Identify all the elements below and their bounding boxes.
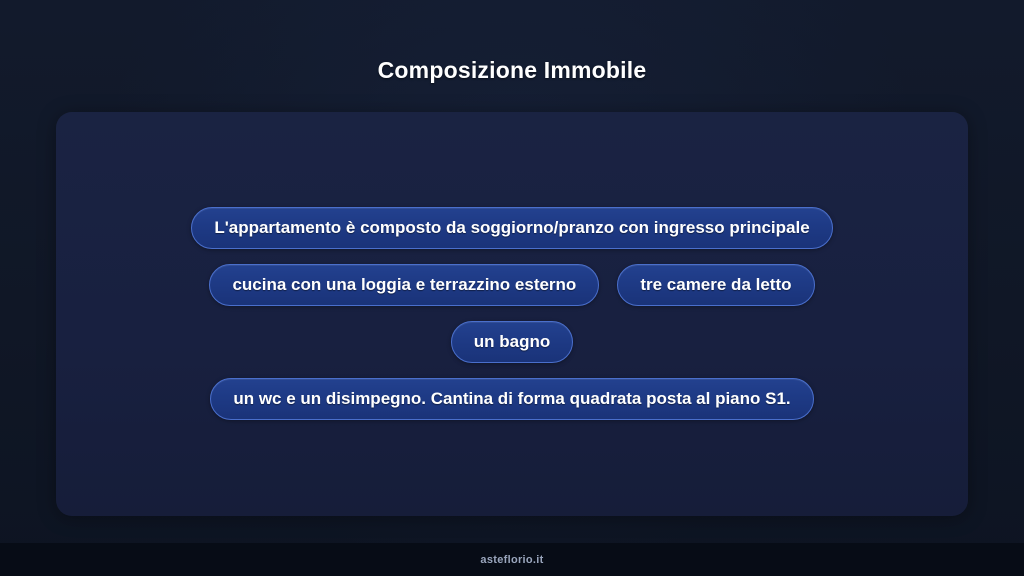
pill-list: L'appartamento è composto da soggiorno/p… — [56, 207, 968, 420]
pill-row: cucina con una loggia e terrazzino ester… — [56, 264, 968, 306]
page-title: Composizione Immobile — [0, 57, 1024, 84]
pill-row: L'appartamento è composto da soggiorno/p… — [56, 207, 968, 249]
list-item[interactable]: un bagno — [451, 321, 573, 363]
list-item[interactable]: L'appartamento è composto da soggiorno/p… — [191, 207, 832, 249]
composition-card: L'appartamento è composto da soggiorno/p… — [56, 112, 968, 516]
footer-site-label: asteflorio.it — [480, 554, 543, 566]
list-item[interactable]: tre camere da letto — [617, 264, 814, 306]
slide-root: Composizione Immobile L'appartamento è c… — [0, 0, 1024, 576]
list-item[interactable]: un wc e un disimpegno. Cantina di forma … — [210, 378, 813, 420]
list-item[interactable]: cucina con una loggia e terrazzino ester… — [209, 264, 599, 306]
pill-row: un bagno — [56, 321, 968, 363]
pill-row: un wc e un disimpegno. Cantina di forma … — [56, 378, 968, 420]
footer-bar: asteflorio.it — [0, 543, 1024, 576]
